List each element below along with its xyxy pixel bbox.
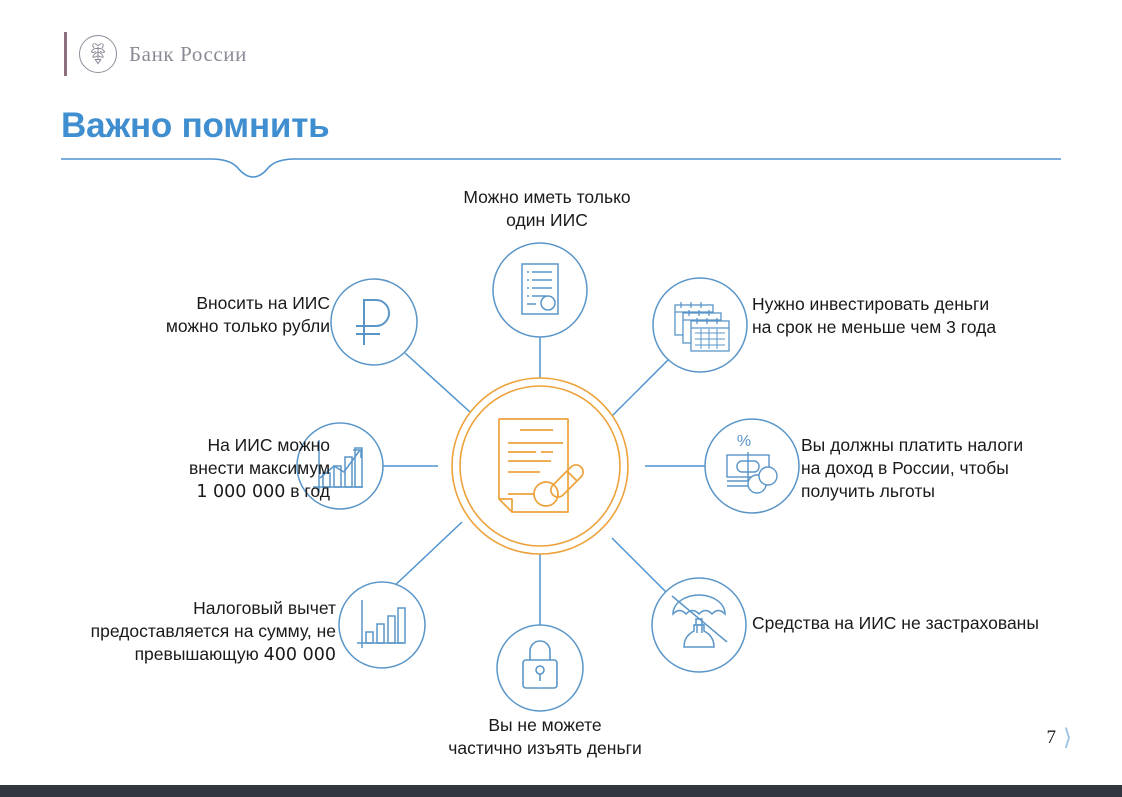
label-one-iis: Можно иметь только один ИИС bbox=[402, 186, 692, 232]
title-divider bbox=[61, 157, 1061, 179]
node-no-partial-withdrawal bbox=[497, 625, 583, 711]
deduction-line-2: предоставляется на сумму, не bbox=[91, 621, 336, 641]
umbrella-money-bag-icon bbox=[672, 595, 727, 647]
ruble-sign-icon bbox=[356, 300, 389, 345]
label-three-years: Нужно инвестировать деньги на срок не ме… bbox=[752, 293, 1052, 339]
spoke-bottom-left bbox=[390, 522, 462, 590]
page-number-text: 7 bbox=[1047, 727, 1057, 749]
page-title: Важно помнить bbox=[61, 106, 329, 146]
label-deduction-limit: Налоговый вычетпредоставляется на сумму,… bbox=[36, 597, 336, 667]
certificate-document-icon bbox=[522, 264, 558, 314]
node-one-iis bbox=[493, 243, 587, 337]
page-number: 7 ⟩ bbox=[1047, 726, 1072, 749]
brand-accent-bar bbox=[64, 32, 67, 76]
node-rubles-only bbox=[331, 279, 417, 365]
node-three-years bbox=[653, 278, 747, 372]
spoke-top-right bbox=[612, 360, 668, 416]
slide: Банк России Важно помнить bbox=[0, 0, 1122, 797]
footer-bar bbox=[0, 785, 1122, 797]
spoke-top-left bbox=[405, 353, 470, 412]
label-no-partial-withdrawal: Вы не можете частично изъять деньги bbox=[395, 714, 695, 760]
spoke-lines bbox=[383, 337, 706, 625]
brand-logo: Банк России bbox=[64, 30, 247, 78]
banknotes-percent-icon bbox=[727, 452, 777, 493]
label-pay-taxes: Вы должны платить налоги на доход в Росс… bbox=[801, 434, 1063, 503]
deduction-line-3-prefix: превышающую bbox=[135, 644, 264, 664]
contribution-line-2: внести максимум bbox=[189, 458, 330, 478]
center-node bbox=[452, 378, 628, 554]
label-not-insured: Средства на ИИС не застрахованы bbox=[752, 612, 1072, 635]
contribution-line-1: На ИИС можно bbox=[207, 435, 330, 455]
padlock-icon bbox=[523, 641, 557, 688]
node-pay-taxes: % bbox=[705, 419, 799, 513]
deduction-amount: 400 000 bbox=[264, 645, 336, 665]
percent-symbol: % bbox=[737, 433, 751, 450]
contribution-suffix: в год bbox=[285, 481, 330, 501]
label-max-contribution: На ИИС можновнести максимум1 000 000 в г… bbox=[60, 434, 330, 504]
bar-chart-icon bbox=[357, 600, 405, 648]
stacked-calendars-icon bbox=[675, 302, 729, 351]
deduction-line-1: Налоговый вычет bbox=[193, 598, 336, 618]
node-deduction-limit bbox=[339, 582, 425, 668]
chevron-right-icon: ⟩ bbox=[1063, 726, 1072, 749]
double-headed-eagle-icon bbox=[79, 35, 117, 73]
spoke-bottom-right bbox=[612, 538, 666, 592]
brand-name: Банк России bbox=[129, 42, 247, 67]
document-with-stamp-icon bbox=[499, 419, 583, 512]
label-rubles-only: Вносить на ИИС можно только рубли bbox=[60, 292, 330, 338]
node-not-insured bbox=[652, 578, 746, 672]
contribution-amount: 1 000 000 bbox=[196, 482, 285, 502]
